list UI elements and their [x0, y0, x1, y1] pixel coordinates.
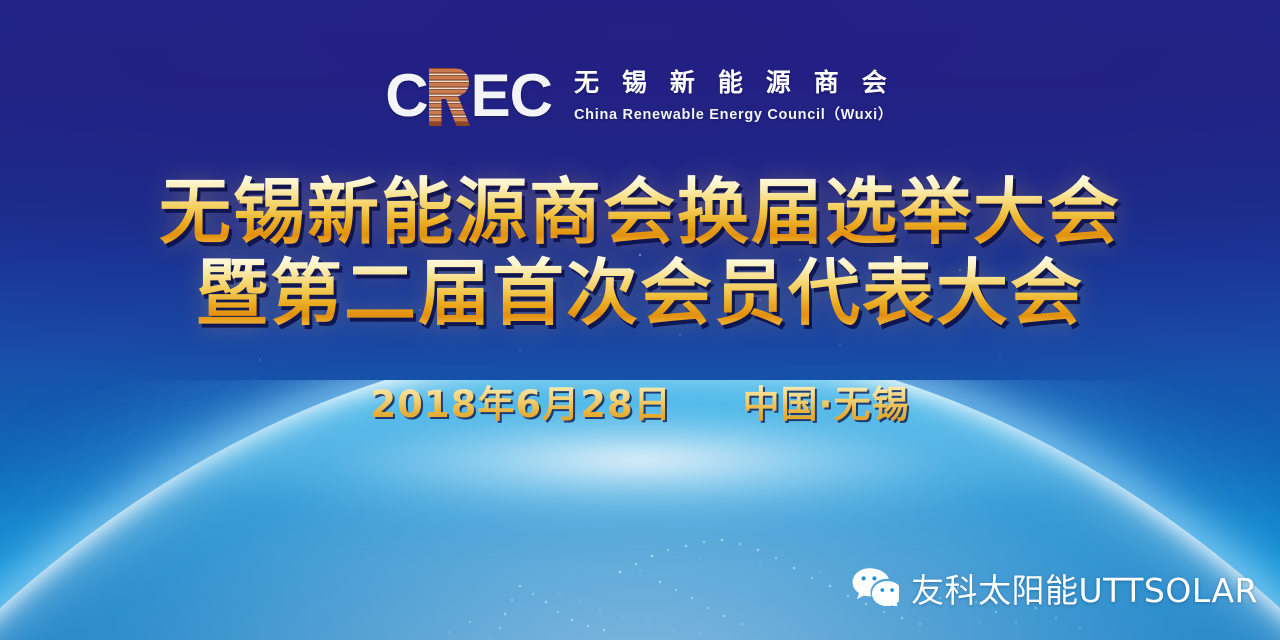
event-meta-row: 2018年6月28日 中国·无锡: [0, 374, 1280, 428]
crec-wordmark: C: [385, 66, 552, 126]
crec-letter-e: E: [471, 66, 510, 126]
headline-block: 无锡新能源商会换届选举大会 暨第二届首次会员代表大会: [0, 172, 1280, 333]
striped-r-solar-icon: [426, 68, 470, 126]
wechat-watermark: 友科太阳能UTTSOLAR: [851, 564, 1258, 612]
logo-english-name: China Renewable Energy Council（Wuxi）: [574, 103, 895, 124]
watermark-text: 友科太阳能UTTSOLAR: [911, 564, 1258, 612]
crec-letter-c-second: C: [510, 66, 552, 126]
logo-chinese-name: 无 锡 新 能 源 商 会: [574, 68, 895, 98]
event-location: 中国·无锡: [743, 374, 910, 428]
event-date: 2018年6月28日: [370, 374, 671, 428]
event-poster: C: [0, 0, 1280, 640]
crec-logo-text: 无 锡 新 能 源 商 会 China Renewable Energy Cou…: [574, 64, 895, 124]
crec-logo: C: [0, 64, 1280, 126]
crec-letter-c-first: C: [385, 66, 427, 126]
headline-line-1: 无锡新能源商会换届选举大会: [159, 172, 1121, 253]
headline-line-2: 暨第二届首次会员代表大会: [196, 253, 1084, 334]
wechat-icon: [851, 566, 899, 611]
